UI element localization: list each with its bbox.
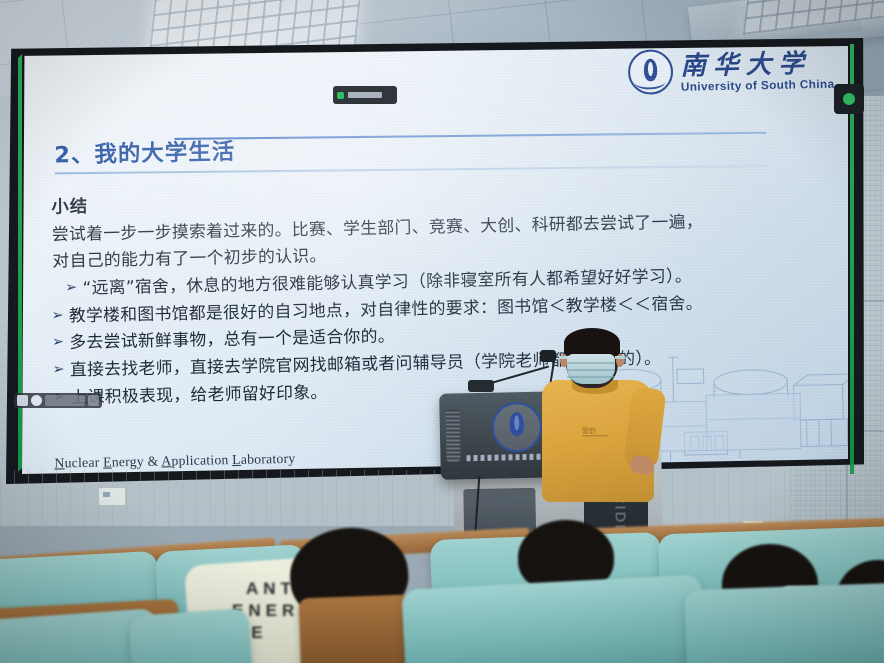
bullet-arrow-icon: ➢ [52, 332, 65, 354]
bullet-arrow-icon: ➢ [65, 277, 78, 299]
recording-status-badge[interactable] [834, 84, 864, 114]
shirt-logo-icon: 警韵 [582, 424, 610, 440]
audience-row: ANT ENER HE [0, 520, 884, 663]
seat-cushion [128, 608, 255, 663]
bullet-arrow-icon: ➢ [51, 305, 64, 327]
status-indicator-icon [337, 92, 344, 99]
emoji-icon[interactable] [31, 395, 42, 406]
university-emblem-icon [491, 402, 542, 453]
bullet-text: 多去尝试新鲜事物，总有一个是适合你的。 [69, 324, 395, 356]
university-emblem-icon [628, 49, 674, 95]
slide-footer: Nuclear Energy & Application Laboratory [54, 451, 295, 472]
toolbar-label [348, 92, 382, 98]
seat-cushion [684, 582, 884, 663]
wall-socket [98, 487, 126, 506]
bullet-arrow-icon: ➢ [52, 359, 65, 381]
svg-text:警韵: 警韵 [582, 426, 596, 435]
logo-english-name: University of South China [681, 79, 835, 94]
send-button[interactable] [88, 395, 99, 406]
face-mask-icon [567, 354, 615, 384]
status-indicator-icon [843, 93, 855, 105]
university-logo: 南华大学 University of South China [628, 46, 834, 95]
screenshot-icon[interactable] [17, 395, 28, 406]
message-input[interactable] [45, 395, 85, 406]
shirt-text-line: ANT [246, 580, 296, 598]
lecture-hall-photo: 南华大学 University of South China 2、我的大学生活 … [0, 0, 884, 663]
screen-annotation-toolbar[interactable] [333, 86, 397, 104]
floating-input-widget[interactable] [14, 393, 102, 408]
screen-edge-light [18, 54, 22, 472]
footer-text: Nuclear Energy & Application Laboratory [54, 451, 295, 471]
podium-speaker [445, 409, 460, 461]
title-divider [174, 132, 766, 140]
seat-cushion [401, 574, 706, 663]
logo-chinese-name: 南华大学 [680, 50, 811, 78]
mask-strap [615, 356, 625, 359]
bullet-text: 上课积极表现，给老师留好印象。 [70, 380, 327, 410]
